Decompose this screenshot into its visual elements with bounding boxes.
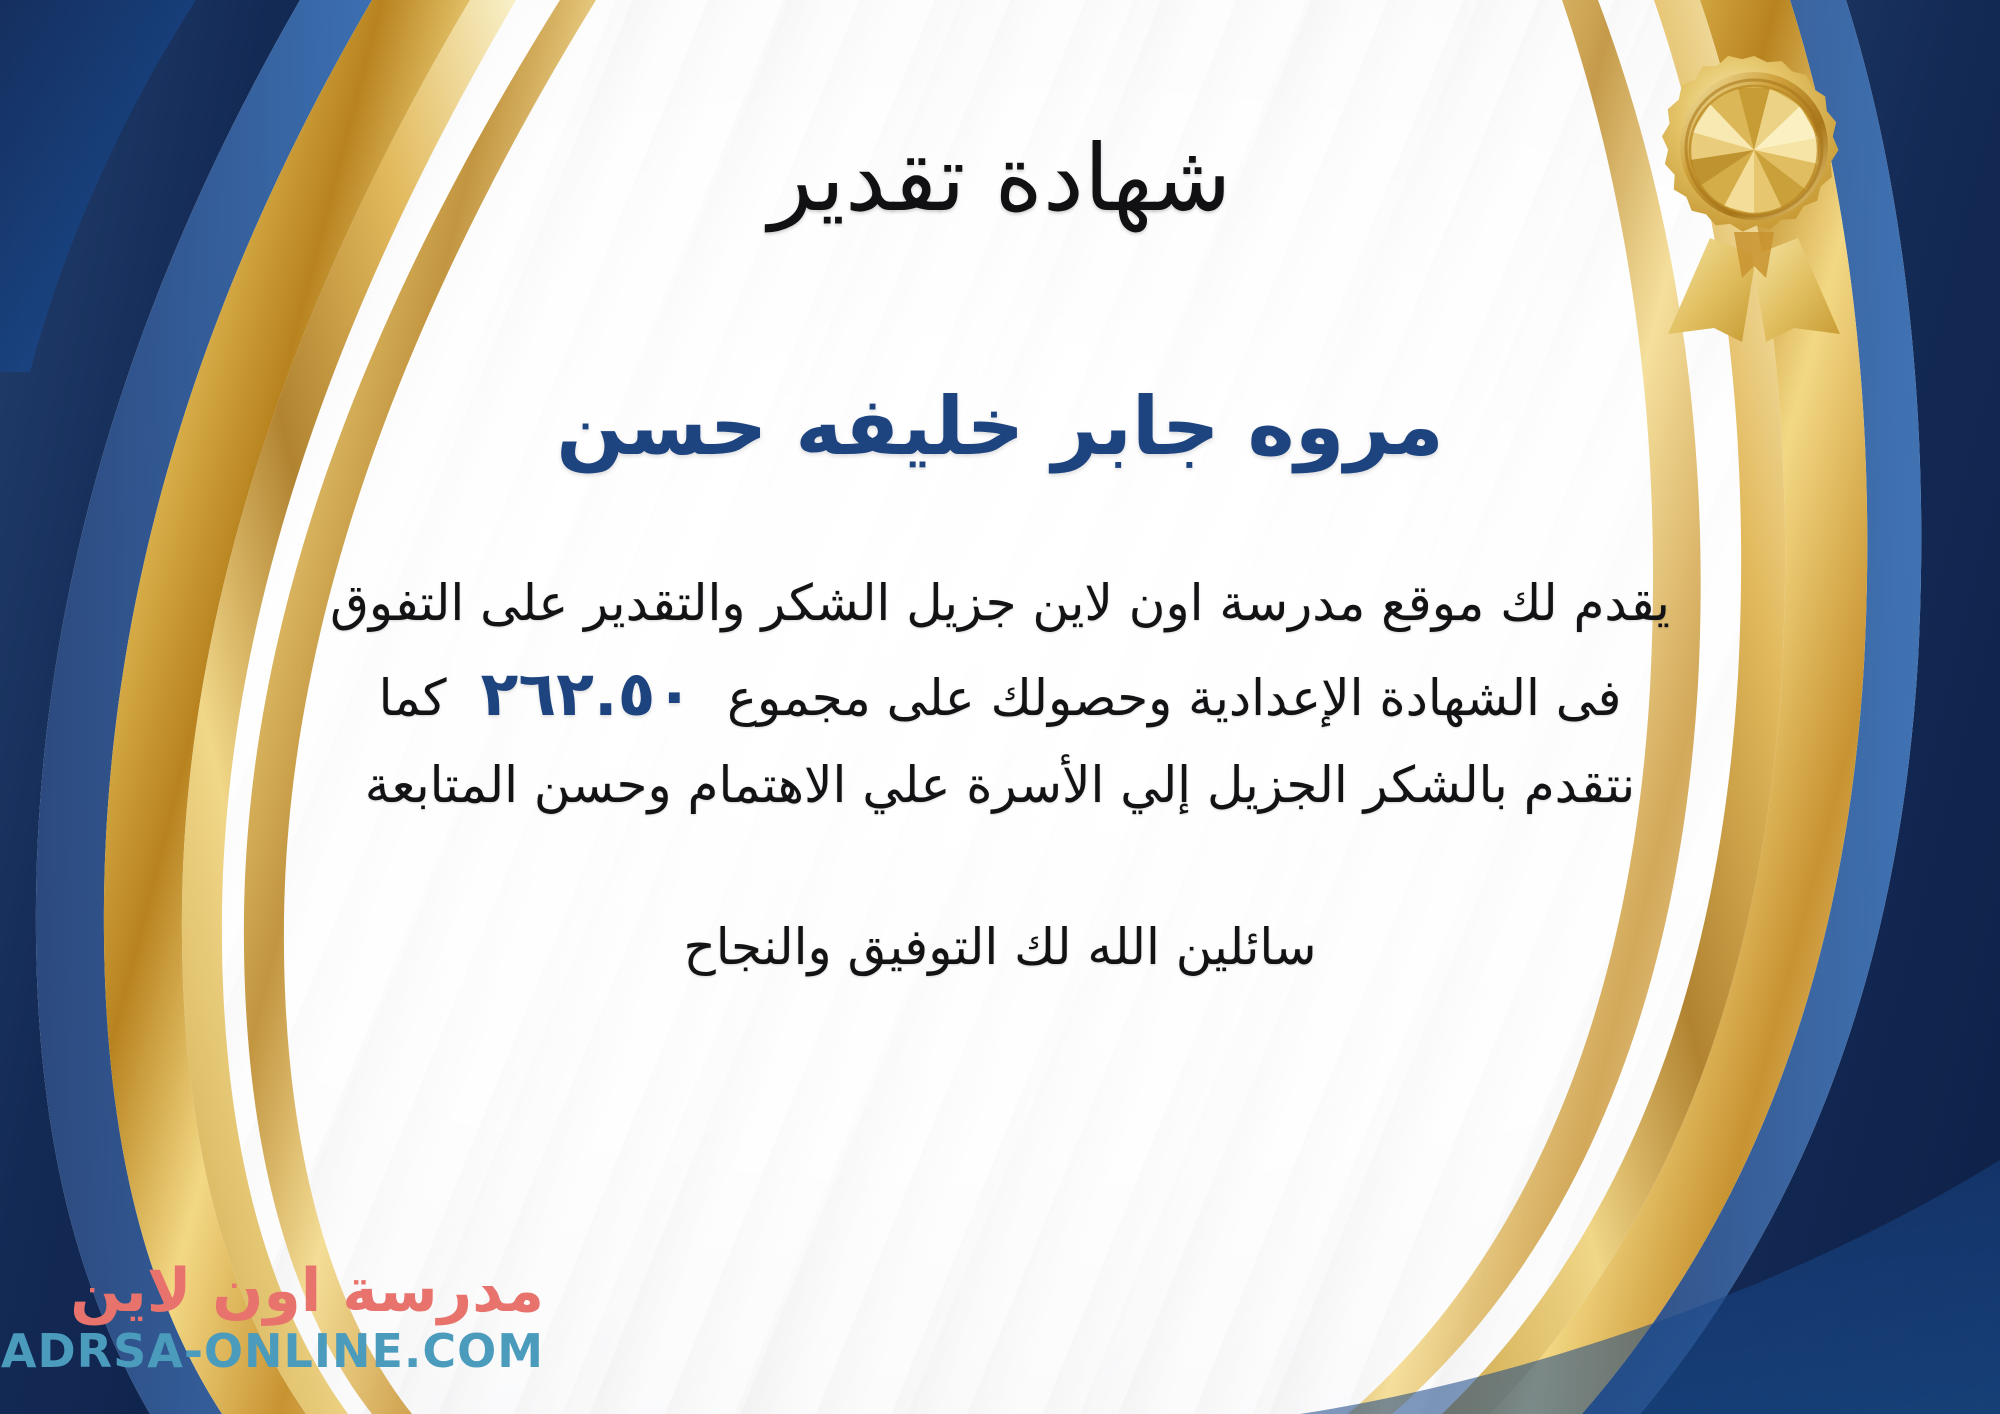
brand-logo-text: مدرسة اون لاين MADRSA-ONLINE.COM (0, 1261, 544, 1375)
brand-website-url: MADRSA-ONLINE.COM (0, 1327, 544, 1375)
certificate-canvas: شهادة تقدير مروه جابر خليفه حسن يقدم لك … (0, 0, 2000, 1414)
grade-total-value: ٢٦٢.٥٠ (462, 657, 711, 730)
certificate-title: شهادة تقدير (769, 128, 1232, 229)
body-line-2-before: فى الشهادة الإعدادية وحصولك على مجموع (727, 669, 1621, 727)
certificate-content: شهادة تقدير مروه جابر خليفه حسن يقدم لك … (0, 0, 2000, 1414)
closing-wish: سائلين الله لك التوفيق والنجاح (683, 918, 1316, 976)
brand-arabic-name: مدرسة اون لاين (70, 1261, 544, 1321)
body-line-2: فى الشهادة الإعدادية وحصولك على مجموع ٢٦… (280, 644, 1720, 744)
body-line-1: يقدم لك موقع مدرسة اون لاين جزيل الشكر و… (280, 563, 1720, 644)
certificate-body: يقدم لك موقع مدرسة اون لاين جزيل الشكر و… (280, 563, 1720, 825)
brand-logo[interactable]: مدرسة اون لاين MADRSA-ONLINE.COM (24, 1244, 544, 1392)
recipient-name: مروه جابر خليفه حسن (556, 381, 1443, 473)
body-line-3: نتقدم بالشكر الجزيل إلي الأسرة علي الاهت… (280, 745, 1720, 826)
body-line-2-after: كما (379, 669, 447, 727)
